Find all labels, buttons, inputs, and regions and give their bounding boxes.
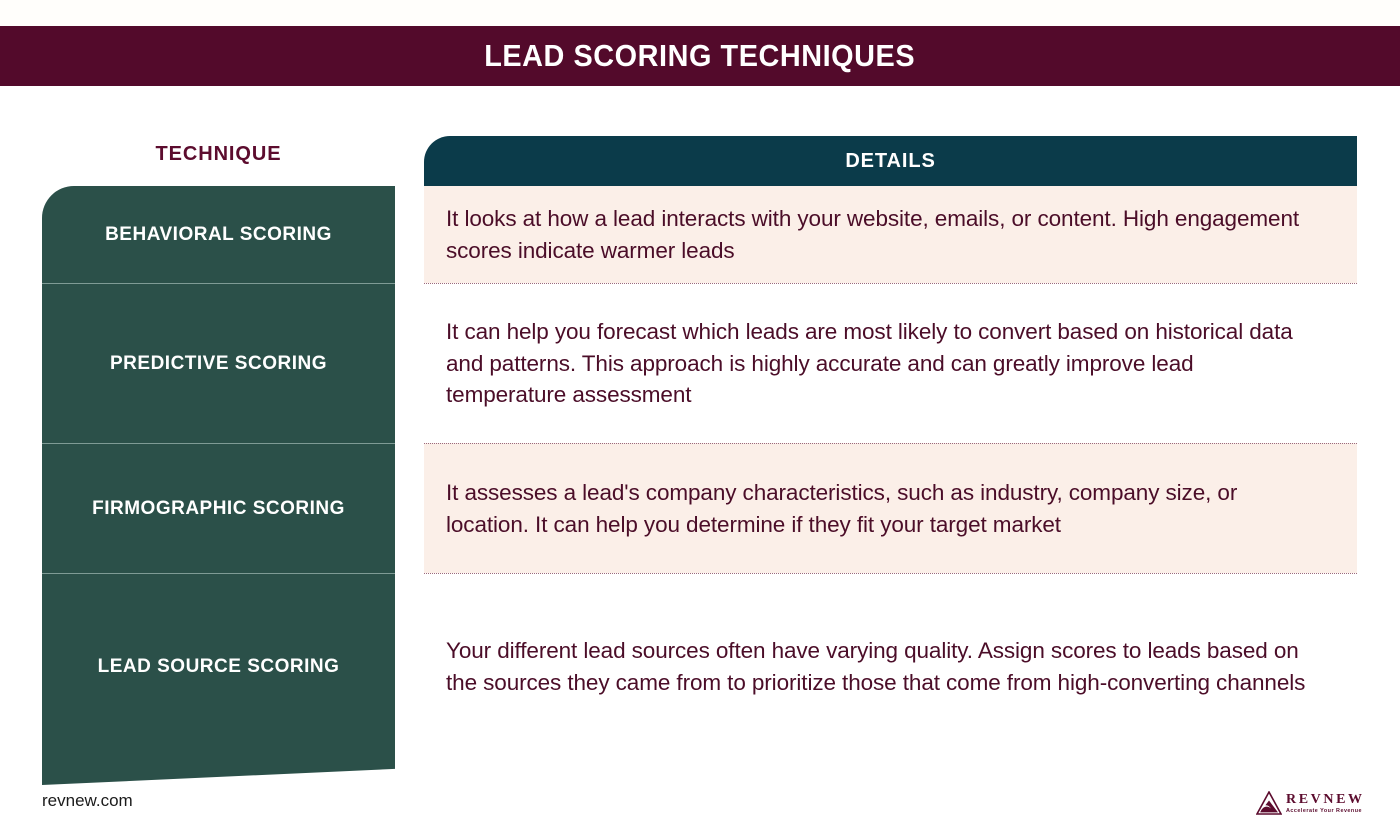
right-margin xyxy=(1357,573,1400,759)
technique-label: FIRMOGRAPHIC SCORING xyxy=(92,498,345,520)
left-margin xyxy=(0,283,42,443)
footer-website-url: revnew.com xyxy=(42,791,133,811)
details-text: Your different lead sources often have v… xyxy=(446,635,1313,698)
top-margin-strip xyxy=(0,0,1400,26)
left-margin xyxy=(0,443,42,573)
left-margin xyxy=(0,573,42,759)
page-title: LEAD SCORING TECHNIQUES xyxy=(485,38,916,74)
right-margin xyxy=(1357,443,1400,573)
technique-cell: LEAD SOURCE SCORING xyxy=(42,573,395,759)
right-margin xyxy=(1357,186,1400,283)
column-header-details-bar: DETAILS xyxy=(424,136,1357,186)
details-text: It can help you forecast which leads are… xyxy=(446,316,1313,411)
logo-wordmark: REVNEW xyxy=(1286,793,1365,807)
column-gap xyxy=(395,573,424,759)
technique-label: LEAD SOURCE SCORING xyxy=(98,656,340,678)
technique-label: BEHAVIORAL SCORING xyxy=(105,224,332,246)
details-text: It assesses a lead's company characteris… xyxy=(446,477,1313,540)
table-row: FIRMOGRAPHIC SCORINGIt assesses a lead's… xyxy=(0,443,1400,573)
technique-cell: FIRMOGRAPHIC SCORING xyxy=(42,443,395,573)
table-row: LEAD SOURCE SCORINGYour different lead s… xyxy=(0,573,1400,759)
column-header-technique: TECHNIQUE xyxy=(42,143,395,166)
details-text: It looks at how a lead interacts with yo… xyxy=(446,203,1313,266)
details-cell: It can help you forecast which leads are… xyxy=(424,283,1357,443)
revnew-logo: REVNEW Accelerate Your Revenue xyxy=(1256,789,1368,819)
right-margin xyxy=(1357,283,1400,443)
details-cell: It assesses a lead's company characteris… xyxy=(424,443,1357,573)
column-gap xyxy=(395,443,424,573)
column-header-details-label: DETAILS xyxy=(845,150,935,173)
technique-column-foot-accent xyxy=(42,759,395,785)
table-row: PREDICTIVE SCORINGIt can help you foreca… xyxy=(0,283,1400,443)
logo-text-block: REVNEW Accelerate Your Revenue xyxy=(1286,793,1365,814)
techniques-table: BEHAVIORAL SCORINGIt looks at how a lead… xyxy=(0,186,1400,759)
left-margin xyxy=(0,186,42,283)
triangle-wave-logo-icon xyxy=(1256,791,1282,817)
details-cell: It looks at how a lead interacts with yo… xyxy=(424,186,1357,283)
column-gap xyxy=(395,186,424,283)
technique-cell: BEHAVIORAL SCORING xyxy=(42,186,395,283)
details-cell: Your different lead sources often have v… xyxy=(424,573,1357,759)
page-banner: LEAD SCORING TECHNIQUES xyxy=(0,26,1400,86)
technique-cell: PREDICTIVE SCORING xyxy=(42,283,395,443)
logo-tagline: Accelerate Your Revenue xyxy=(1286,809,1365,814)
table-row: BEHAVIORAL SCORINGIt looks at how a lead… xyxy=(0,186,1400,283)
column-gap xyxy=(395,283,424,443)
technique-label: PREDICTIVE SCORING xyxy=(110,353,327,375)
